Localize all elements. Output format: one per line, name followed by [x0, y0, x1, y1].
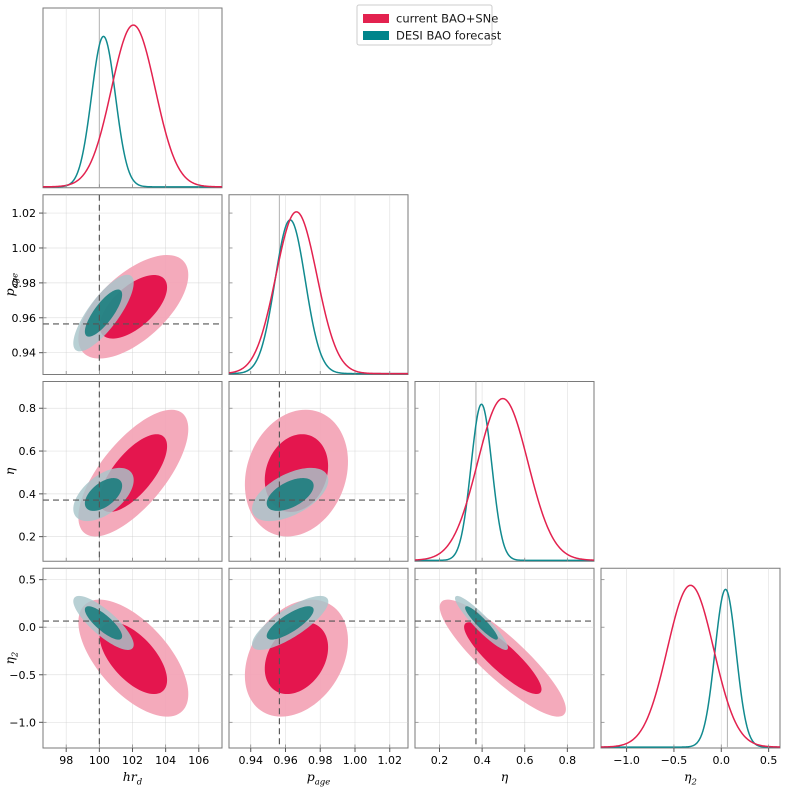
- tick-label-x: 106: [188, 754, 209, 767]
- panel-frame: [601, 568, 780, 748]
- tick-label-x: 0.0: [713, 754, 731, 767]
- axis-label-eta-y: η: [2, 467, 17, 475]
- tick-label-x: 1.00: [343, 754, 368, 767]
- tick-label-x: −1.0: [613, 754, 640, 767]
- panel-contour-page_eta2: [229, 568, 408, 748]
- tick-label-x: 104: [155, 754, 176, 767]
- axis-label-eta2-x: η2: [684, 769, 697, 788]
- tick-label-y: 0.6: [19, 445, 37, 458]
- tick-label-y: 1.00: [12, 242, 37, 255]
- panel-marginal-eta2: [601, 568, 780, 748]
- tick-label-y: 0.8: [19, 402, 37, 415]
- tick-label-y: −0.5: [9, 669, 36, 682]
- axis-label-sub: 2: [11, 652, 21, 658]
- tick-label-y: 1.02: [12, 207, 37, 220]
- tick-label-x: 0.94: [238, 754, 263, 767]
- axis-label-main: hr: [123, 769, 138, 784]
- panel-contour-page_eta: [229, 382, 408, 562]
- corner-plot-figure: 98100102104106hrd0.940.960.981.001.02pag…: [0, 0, 789, 789]
- tick-label-x: −0.5: [661, 754, 688, 767]
- tick-label-x: 0.5: [760, 754, 778, 767]
- axis-label-sub: 2: [691, 778, 697, 788]
- tick-label-x: 1.02: [378, 754, 403, 767]
- legend-swatch-current: [363, 14, 389, 23]
- axis-label-sub: d: [137, 778, 143, 788]
- axis-label-main: η: [501, 769, 509, 784]
- axis-label-page-y: page: [2, 273, 21, 297]
- tick-label-x: 0.6: [516, 754, 534, 767]
- corner-plot-canvas: 98100102104106hrd0.940.960.981.001.02pag…: [0, 0, 789, 789]
- axis-label-main: η: [2, 467, 17, 475]
- axis-label-eta-x: η: [501, 769, 509, 784]
- tick-label-x: 0.96: [273, 754, 298, 767]
- tick-label-y: 0.94: [12, 347, 37, 360]
- axis-label-eta2-y: η2: [2, 652, 21, 665]
- axis-label-sub: age: [315, 778, 331, 788]
- tick-label-y: 0.2: [19, 531, 37, 544]
- axis-label-main: p: [2, 288, 17, 296]
- tick-label-y: 0.96: [12, 312, 37, 325]
- panel-marginal-hrd: [43, 8, 222, 188]
- tick-label-y: 0.4: [19, 488, 37, 501]
- tick-label-x: 0.4: [473, 754, 491, 767]
- tick-label-y: 0.5: [19, 574, 37, 587]
- tick-label-x: 102: [122, 754, 143, 767]
- axis-label-sub: age: [11, 273, 21, 289]
- legend-label-desi: DESI BAO forecast: [396, 29, 502, 43]
- tick-label-x: 100: [89, 754, 110, 767]
- tick-label-x: 98: [59, 754, 73, 767]
- legend: current BAO+SNeDESI BAO forecast: [357, 5, 502, 45]
- axis-label-page-x: page: [307, 769, 331, 788]
- panel-contour-hrd_page: [43, 195, 222, 375]
- tick-label-x: 0.8: [559, 754, 577, 767]
- tick-label-y: −1.0: [9, 716, 36, 729]
- panel-contour-hrd_eta: [43, 382, 222, 562]
- axis-label-hrd-x: hrd: [123, 769, 143, 788]
- panel-contour-eta_eta2: [415, 568, 594, 748]
- tick-label-x: 0.2: [431, 754, 449, 767]
- tick-label-y: 0.0: [19, 621, 37, 634]
- panel-marginal-page: [229, 195, 408, 375]
- tick-label-x: 0.98: [308, 754, 333, 767]
- legend-label-current: current BAO+SNe: [396, 12, 498, 26]
- panel-marginal-eta: [415, 382, 594, 562]
- panel-contour-hrd_eta2: [43, 568, 222, 748]
- legend-swatch-desi: [363, 31, 389, 40]
- axis-label-main: p: [307, 769, 315, 784]
